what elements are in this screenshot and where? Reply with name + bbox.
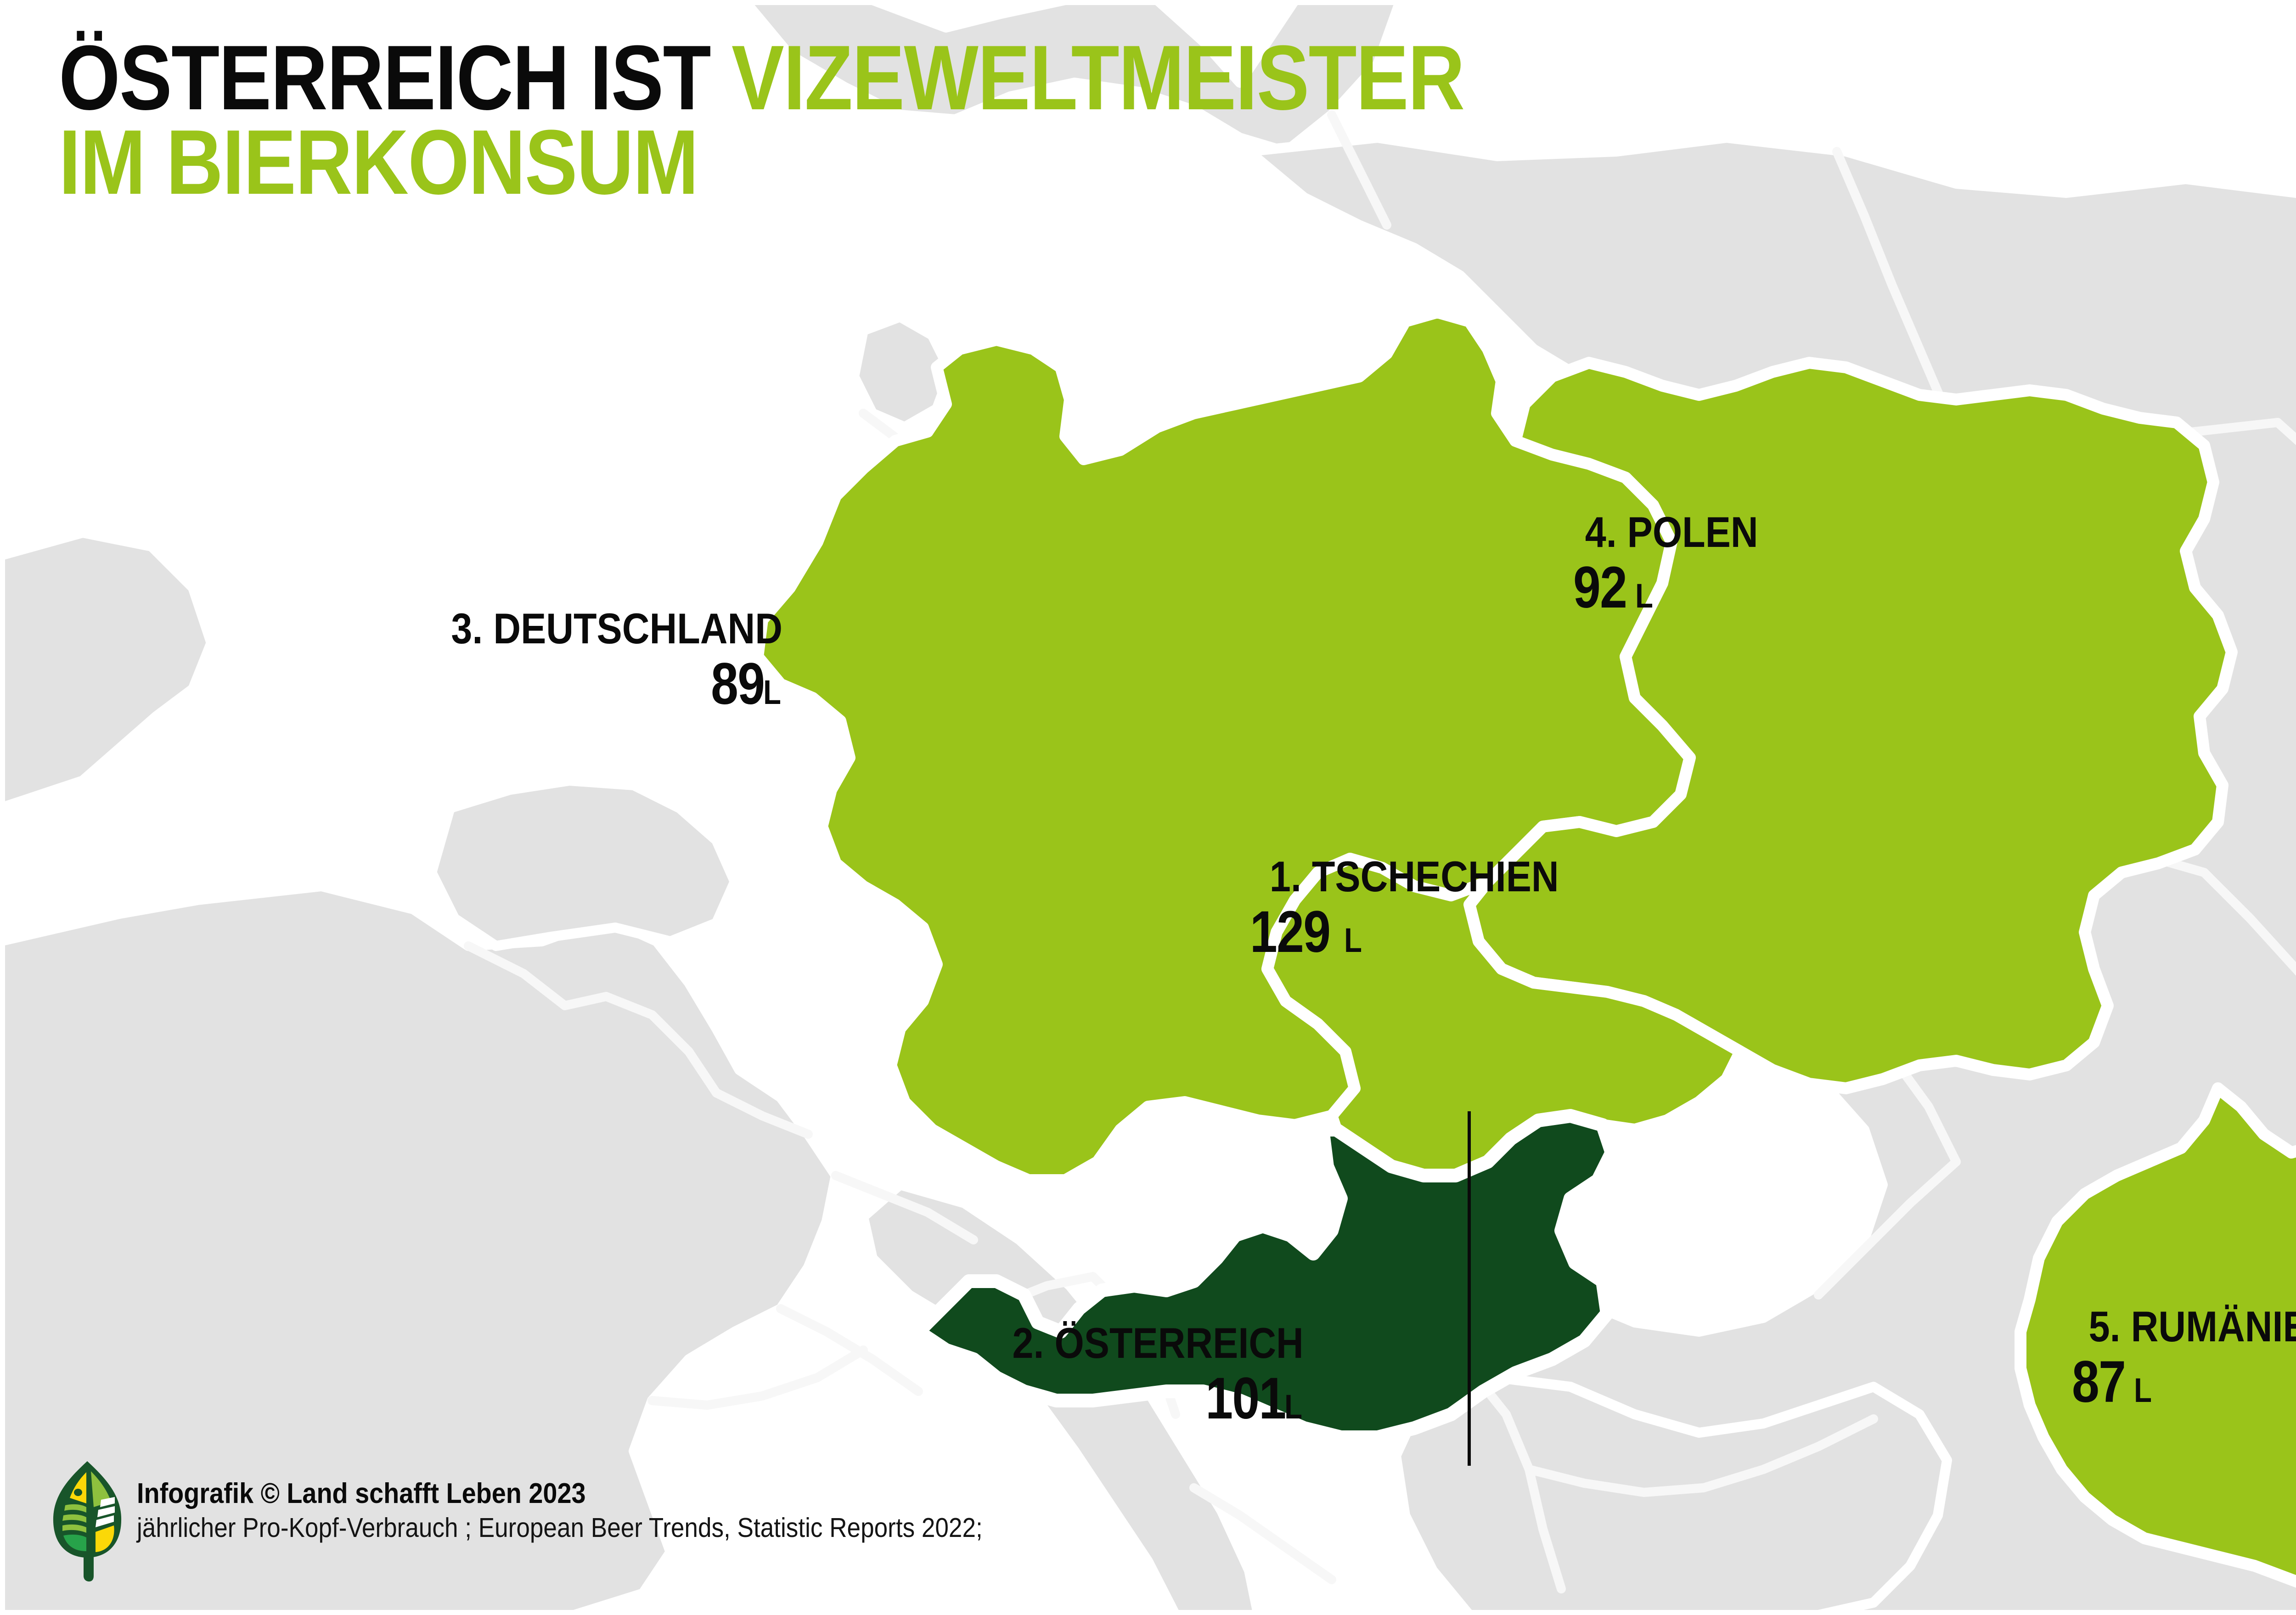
country-label-tschechien-value: 129L (1250, 903, 1579, 962)
country-label-tschechien-name: 1. TSCHECHIEN (1270, 855, 1559, 898)
leaf-dot (74, 1489, 82, 1496)
footer-source: jährlicher Pro-Kopf-Verbrauch ; European… (137, 1510, 983, 1546)
country-label-oesterreich-name: 2. ÖSTERREICH (1012, 1322, 1303, 1365)
value-number: 92 (1573, 558, 1626, 617)
country-label-deutschland-value: 89L (406, 655, 782, 714)
leaf-stem (84, 1549, 94, 1581)
country-label-polen-name: 4. POLEN (1585, 511, 1758, 554)
infographic-canvas: ÖSTERREICH IST VIZEWELTMEISTER IM BIERKO… (0, 0, 2296, 1615)
country-label-deutschland: 3. DEUTSCHLAND 89L (406, 607, 782, 714)
country-label-tschechien: 1. TSCHECHIEN 129L (1250, 855, 1579, 962)
value-unit: L (1344, 923, 1362, 957)
value-unit: L (1284, 1390, 1302, 1424)
title-line-2: IM BIERKONSUM (59, 120, 1464, 205)
footer-text: Infografik © Land schafft Leben 2023 jäh… (137, 1477, 1076, 1546)
value-number: 101 (1205, 1369, 1285, 1428)
page-title: ÖSTERREICH IST VIZEWELTMEISTER IM BIERKO… (59, 36, 1693, 205)
title-part-green: VIZEWELTMEISTER (732, 27, 1464, 129)
value-unit: L (1636, 579, 1654, 613)
footer: Infografik © Land schafft Leben 2023 jäh… (51, 1459, 1076, 1582)
value-unit: L (2134, 1373, 2152, 1407)
leaf-stripes-left (62, 1504, 86, 1533)
country-label-polen-value: 92L (1573, 558, 1770, 617)
title-line-1: ÖSTERREICH IST VIZEWELTMEISTER (59, 36, 1464, 120)
value-number: 87 (2072, 1353, 2125, 1412)
value-number: 89 (711, 655, 764, 714)
country-label-rumaenien: 5. RUMÄNIEN 87L (2072, 1305, 2296, 1412)
austria-leader-line (1468, 1111, 1471, 1466)
country-label-oesterreich-value: 101L (973, 1369, 1304, 1428)
country-label-oesterreich: 2. ÖSTERREICH 101L (973, 1322, 1304, 1428)
country-label-deutschland-name: 3. DEUTSCHLAND (451, 607, 782, 650)
value-unit: L (763, 675, 781, 709)
country-label-polen: 4. POLEN 92L (1573, 511, 1770, 617)
country-label-rumaenien-value: 87L (2072, 1353, 2296, 1412)
value-number: 129 (1250, 903, 1330, 962)
footer-credit: Infografik © Land schafft Leben 2023 (137, 1477, 983, 1510)
country-label-rumaenien-name: 5. RUMÄNIEN (2089, 1305, 2296, 1348)
land-schafft-leben-leaf-logo (51, 1459, 123, 1582)
